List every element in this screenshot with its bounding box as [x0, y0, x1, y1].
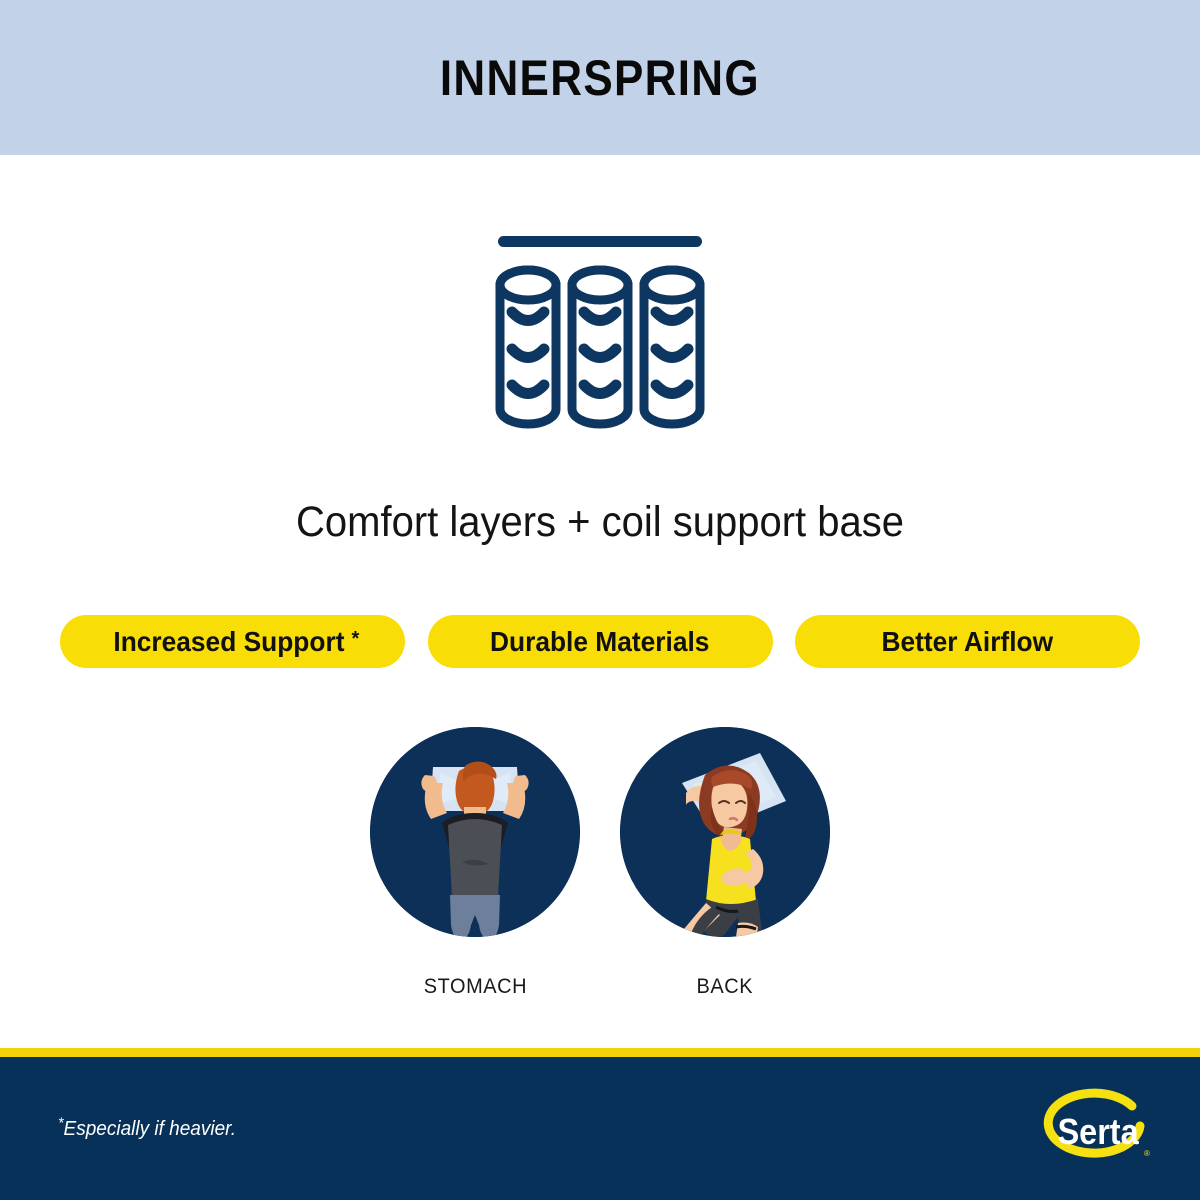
coil-cylinder-2	[572, 270, 628, 424]
serta-wordmark: Serta	[1058, 1112, 1140, 1152]
man-sleeping-face-down-icon	[370, 727, 580, 937]
benefit-pill-durable-materials[interactable]: Durable Materials	[428, 615, 773, 668]
woman-sleeping-on-back-icon	[620, 727, 830, 937]
coil-cylinder-1	[500, 270, 556, 424]
benefit-label: Durable Materials	[490, 626, 709, 658]
registered-trademark-symbol: ®	[1144, 1149, 1150, 1158]
infographic-page: INNERSPRING	[0, 0, 1200, 1200]
benefit-pill-better-airflow[interactable]: Better Airflow	[795, 615, 1140, 668]
sleep-positions-row: STOMACH	[0, 727, 1200, 999]
page-title: INNERSPRING	[440, 49, 760, 107]
sleep-position-label: BACK	[697, 975, 754, 999]
benefit-label: Increased Support	[113, 626, 344, 658]
header-banner: INNERSPRING	[0, 0, 1200, 155]
benefit-pill-increased-support[interactable]: Increased Support*	[60, 615, 405, 668]
benefit-label: Better Airflow	[882, 626, 1054, 658]
sleep-position-stomach: STOMACH	[370, 727, 580, 999]
sleep-position-back: BACK	[620, 727, 830, 999]
innerspring-coils-icon	[490, 222, 710, 437]
tagline-text: Comfort layers + coil support base	[42, 498, 1158, 547]
back-sleeper-illustration	[620, 727, 830, 937]
footnote-text: *Especially if heavier.	[58, 1118, 236, 1141]
coil-cylinder-3	[644, 270, 700, 424]
stomach-sleeper-illustration	[370, 727, 580, 937]
serta-logo[interactable]: Serta ®	[1036, 1086, 1160, 1178]
coil-top-bar	[498, 236, 702, 247]
footnote-body: Especially if heavier.	[64, 1118, 236, 1140]
icon-container	[0, 222, 1200, 437]
benefits-row: Increased Support* Durable Materials Bet…	[60, 615, 1140, 668]
sleep-position-label: STOMACH	[423, 975, 526, 999]
footer-accent-stripe	[0, 1048, 1200, 1057]
